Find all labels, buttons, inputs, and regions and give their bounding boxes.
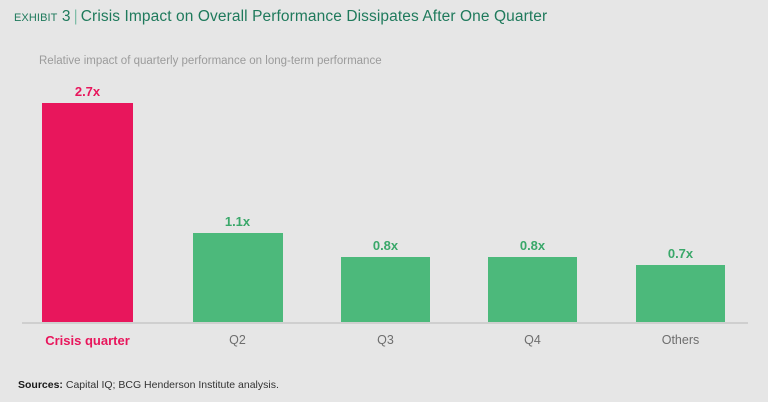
sources-label: Sources: [18, 379, 63, 391]
bar-value-label: 0.8x [373, 238, 398, 253]
bar-rect [488, 257, 577, 322]
category-label-q2: Q2 [177, 333, 298, 347]
bar-crisis-quarter: 2.7x [42, 103, 133, 322]
bar-rect [42, 103, 133, 322]
bar-q4: 0.8x [488, 257, 577, 322]
bar-q2: 1.1x [193, 233, 283, 322]
sources-footnote: Sources: Capital IQ; BCG Henderson Insti… [18, 379, 279, 391]
bar-q3: 0.8x [341, 257, 430, 322]
bar-value-label: 1.1x [225, 214, 250, 229]
bar-value-label: 2.7x [75, 84, 100, 99]
chart-plot-area: 2.7x1.1x0.8x0.8x0.7x Crisis quarterQ2Q3Q… [0, 0, 768, 402]
bar-rect [636, 265, 725, 322]
bar-value-label: 0.7x [668, 246, 693, 261]
exhibit-chart-page: Exhibit 3|Crisis Impact on Overall Perfo… [0, 0, 768, 402]
bar-rect [341, 257, 430, 322]
category-label-crisis-quarter: Crisis quarter [27, 333, 148, 348]
bar-rect [193, 233, 283, 322]
category-label-q4: Q4 [472, 333, 593, 347]
bar-value-label: 0.8x [520, 238, 545, 253]
x-axis-baseline [22, 322, 748, 324]
bar-others: 0.7x [636, 265, 725, 322]
category-label-others: Others [620, 333, 741, 347]
sources-text: Capital IQ; BCG Henderson Institute anal… [66, 379, 279, 391]
category-label-q3: Q3 [325, 333, 446, 347]
